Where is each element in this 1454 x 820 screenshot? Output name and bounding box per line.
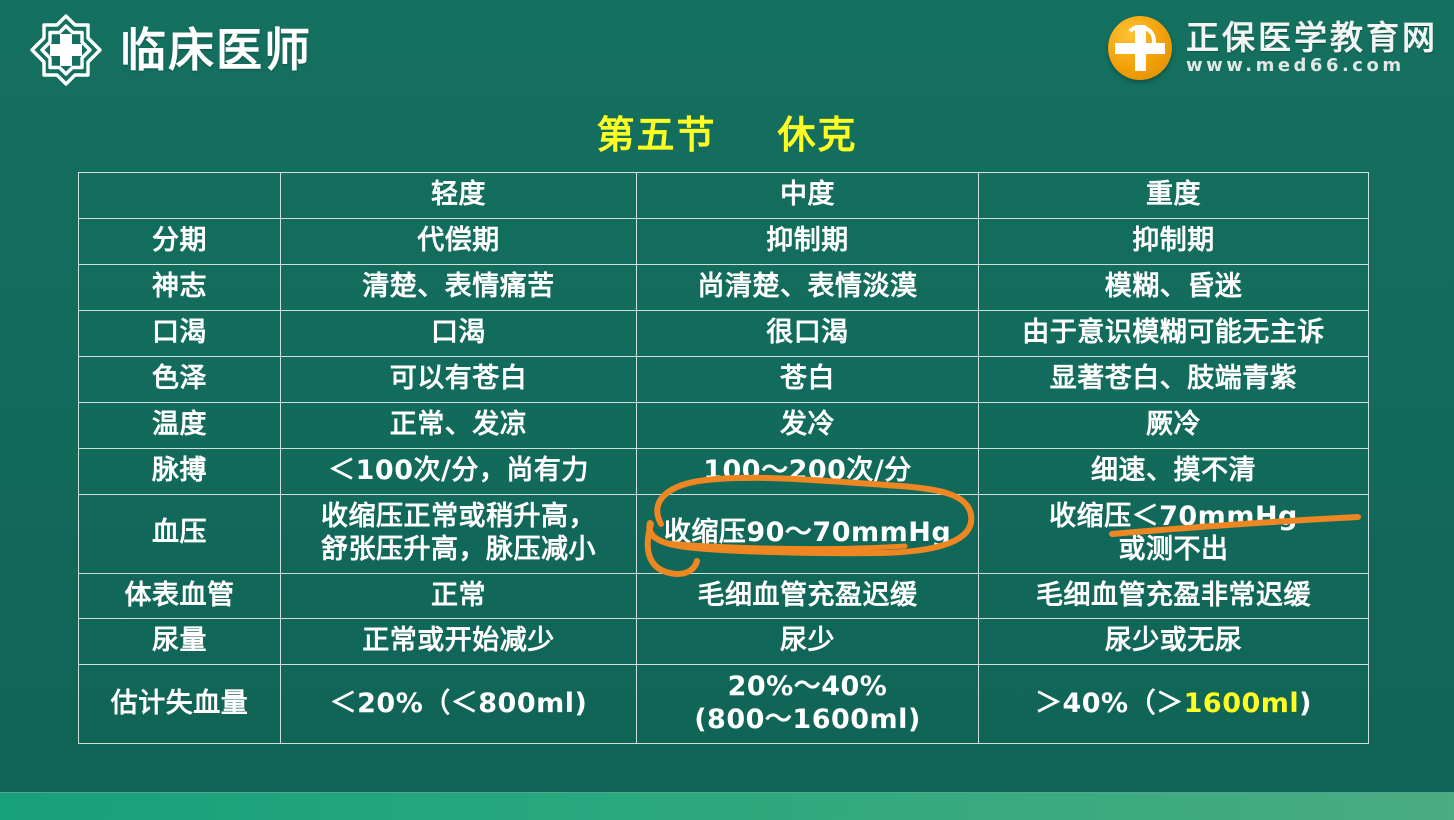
row-label: 神志 [79, 264, 281, 310]
table-cell: 收缩压＜70mmHg 或测不出 [979, 494, 1369, 573]
column-header-3: 重度 [979, 173, 1369, 219]
table-cell: 苍白 [637, 356, 979, 402]
brand-left: 临床医师 [28, 12, 312, 88]
row-label: 体表血管 [79, 573, 281, 619]
circle-cross-icon [1108, 16, 1172, 80]
badge-cross-horizontal [1115, 43, 1165, 54]
row-label: 色泽 [79, 356, 281, 402]
table-cell: 抑制期 [637, 219, 979, 265]
table-row: 体表血管正常毛细血管充盈迟缓毛细血管充盈非常迟缓 [79, 573, 1369, 619]
row-label: 估计失血量 [79, 665, 281, 744]
table-cell: 口渴 [281, 310, 637, 356]
bottom-accent-bar [0, 792, 1454, 820]
page-title: 第五节 休克 [0, 104, 1454, 159]
partner-url: www.med66.com [1186, 57, 1438, 75]
table-cell: 清楚、表情痛苦 [281, 264, 637, 310]
row-label: 温度 [79, 402, 281, 448]
table-cell: 100～200次/分 [637, 448, 979, 494]
table-cell: 由于意识模糊可能无主诉 [979, 310, 1369, 356]
table-cell: 正常、发凉 [281, 402, 637, 448]
table-cell: 收缩压90～70mmHg [637, 494, 979, 573]
table-cell: 抑制期 [979, 219, 1369, 265]
table-cell: ＜100次/分，尚有力 [281, 448, 637, 494]
table-cell: 可以有苍白 [281, 356, 637, 402]
column-header-2: 中度 [637, 173, 979, 219]
cell-text-highlight: 1600ml [1184, 688, 1300, 719]
brand-title: 临床医师 [120, 27, 312, 73]
table-cell: 毛细血管充盈迟缓 [637, 573, 979, 619]
cell-text-white: ＞40%（＞ [1035, 688, 1184, 719]
column-header-1: 轻度 [281, 173, 637, 219]
table-cell: 尿少 [637, 619, 979, 665]
table-header-row: 轻度中度重度 [79, 173, 1369, 219]
table-row: 色泽可以有苍白苍白显著苍白、肢端青紫 [79, 356, 1369, 402]
table-cell: 显著苍白、肢端青紫 [979, 356, 1369, 402]
table-cell: 毛细血管充盈非常迟缓 [979, 573, 1369, 619]
slide-header: 临床医师 正保医学教育网 www.med66.com [0, 0, 1454, 96]
row-label: 血压 [79, 494, 281, 573]
partner-name: 正保医学教育网 [1186, 21, 1438, 54]
table-cell: 20%～40% (800～1600ml) [637, 665, 979, 744]
table-cell: 很口渴 [637, 310, 979, 356]
table-row: 温度正常、发凉发冷厥冷 [79, 402, 1369, 448]
partner-logo: 正保医学教育网 www.med66.com [1108, 16, 1438, 80]
table-corner-cell [79, 173, 281, 219]
medical-cross-lotus-icon [28, 12, 104, 88]
cell-text-white-suffix: ) [1299, 688, 1312, 719]
table-cell: 细速、摸不清 [979, 448, 1369, 494]
row-label: 分期 [79, 219, 281, 265]
table-cell: ＜20%（＜800ml) [281, 665, 637, 744]
table-row: 估计失血量＜20%（＜800ml)20%～40% (800～1600ml)＞40… [79, 665, 1369, 744]
table-row: 神志清楚、表情痛苦尚清楚、表情淡漠模糊、昏迷 [79, 264, 1369, 310]
table-cell: 厥冷 [979, 402, 1369, 448]
table-row: 口渴口渴很口渴由于意识模糊可能无主诉 [79, 310, 1369, 356]
table-cell: 尿少或无尿 [979, 619, 1369, 665]
row-label: 口渴 [79, 310, 281, 356]
table-row: 分期代偿期抑制期抑制期 [79, 219, 1369, 265]
table-cell: 代偿期 [281, 219, 637, 265]
shock-grading-table: 轻度中度重度分期代偿期抑制期抑制期神志清楚、表情痛苦尚清楚、表情淡漠模糊、昏迷口… [78, 172, 1368, 744]
table-cell: 发冷 [637, 402, 979, 448]
table-cell: 正常 [281, 573, 637, 619]
row-label: 脉搏 [79, 448, 281, 494]
table-cell: 模糊、昏迷 [979, 264, 1369, 310]
slide-canvas: 临床医师 正保医学教育网 www.med66.com 第五节 休克 轻度中度重度… [0, 0, 1454, 820]
table-row: 尿量正常或开始减少尿少尿少或无尿 [79, 619, 1369, 665]
table-cell: ＞40%（＞1600ml) [979, 665, 1369, 744]
table-cell: 收缩压正常或稍升高， 舒张压升高，脉压减小 [281, 494, 637, 573]
row-label: 尿量 [79, 619, 281, 665]
table-cell: 尚清楚、表情淡漠 [637, 264, 979, 310]
table-row: 血压收缩压正常或稍升高， 舒张压升高，脉压减小收缩压90～70mmHg收缩压＜7… [79, 494, 1369, 573]
partner-text: 正保医学教育网 www.med66.com [1186, 21, 1438, 75]
table-cell: 正常或开始减少 [281, 619, 637, 665]
table-row: 脉搏＜100次/分，尚有力100～200次/分细速、摸不清 [79, 448, 1369, 494]
